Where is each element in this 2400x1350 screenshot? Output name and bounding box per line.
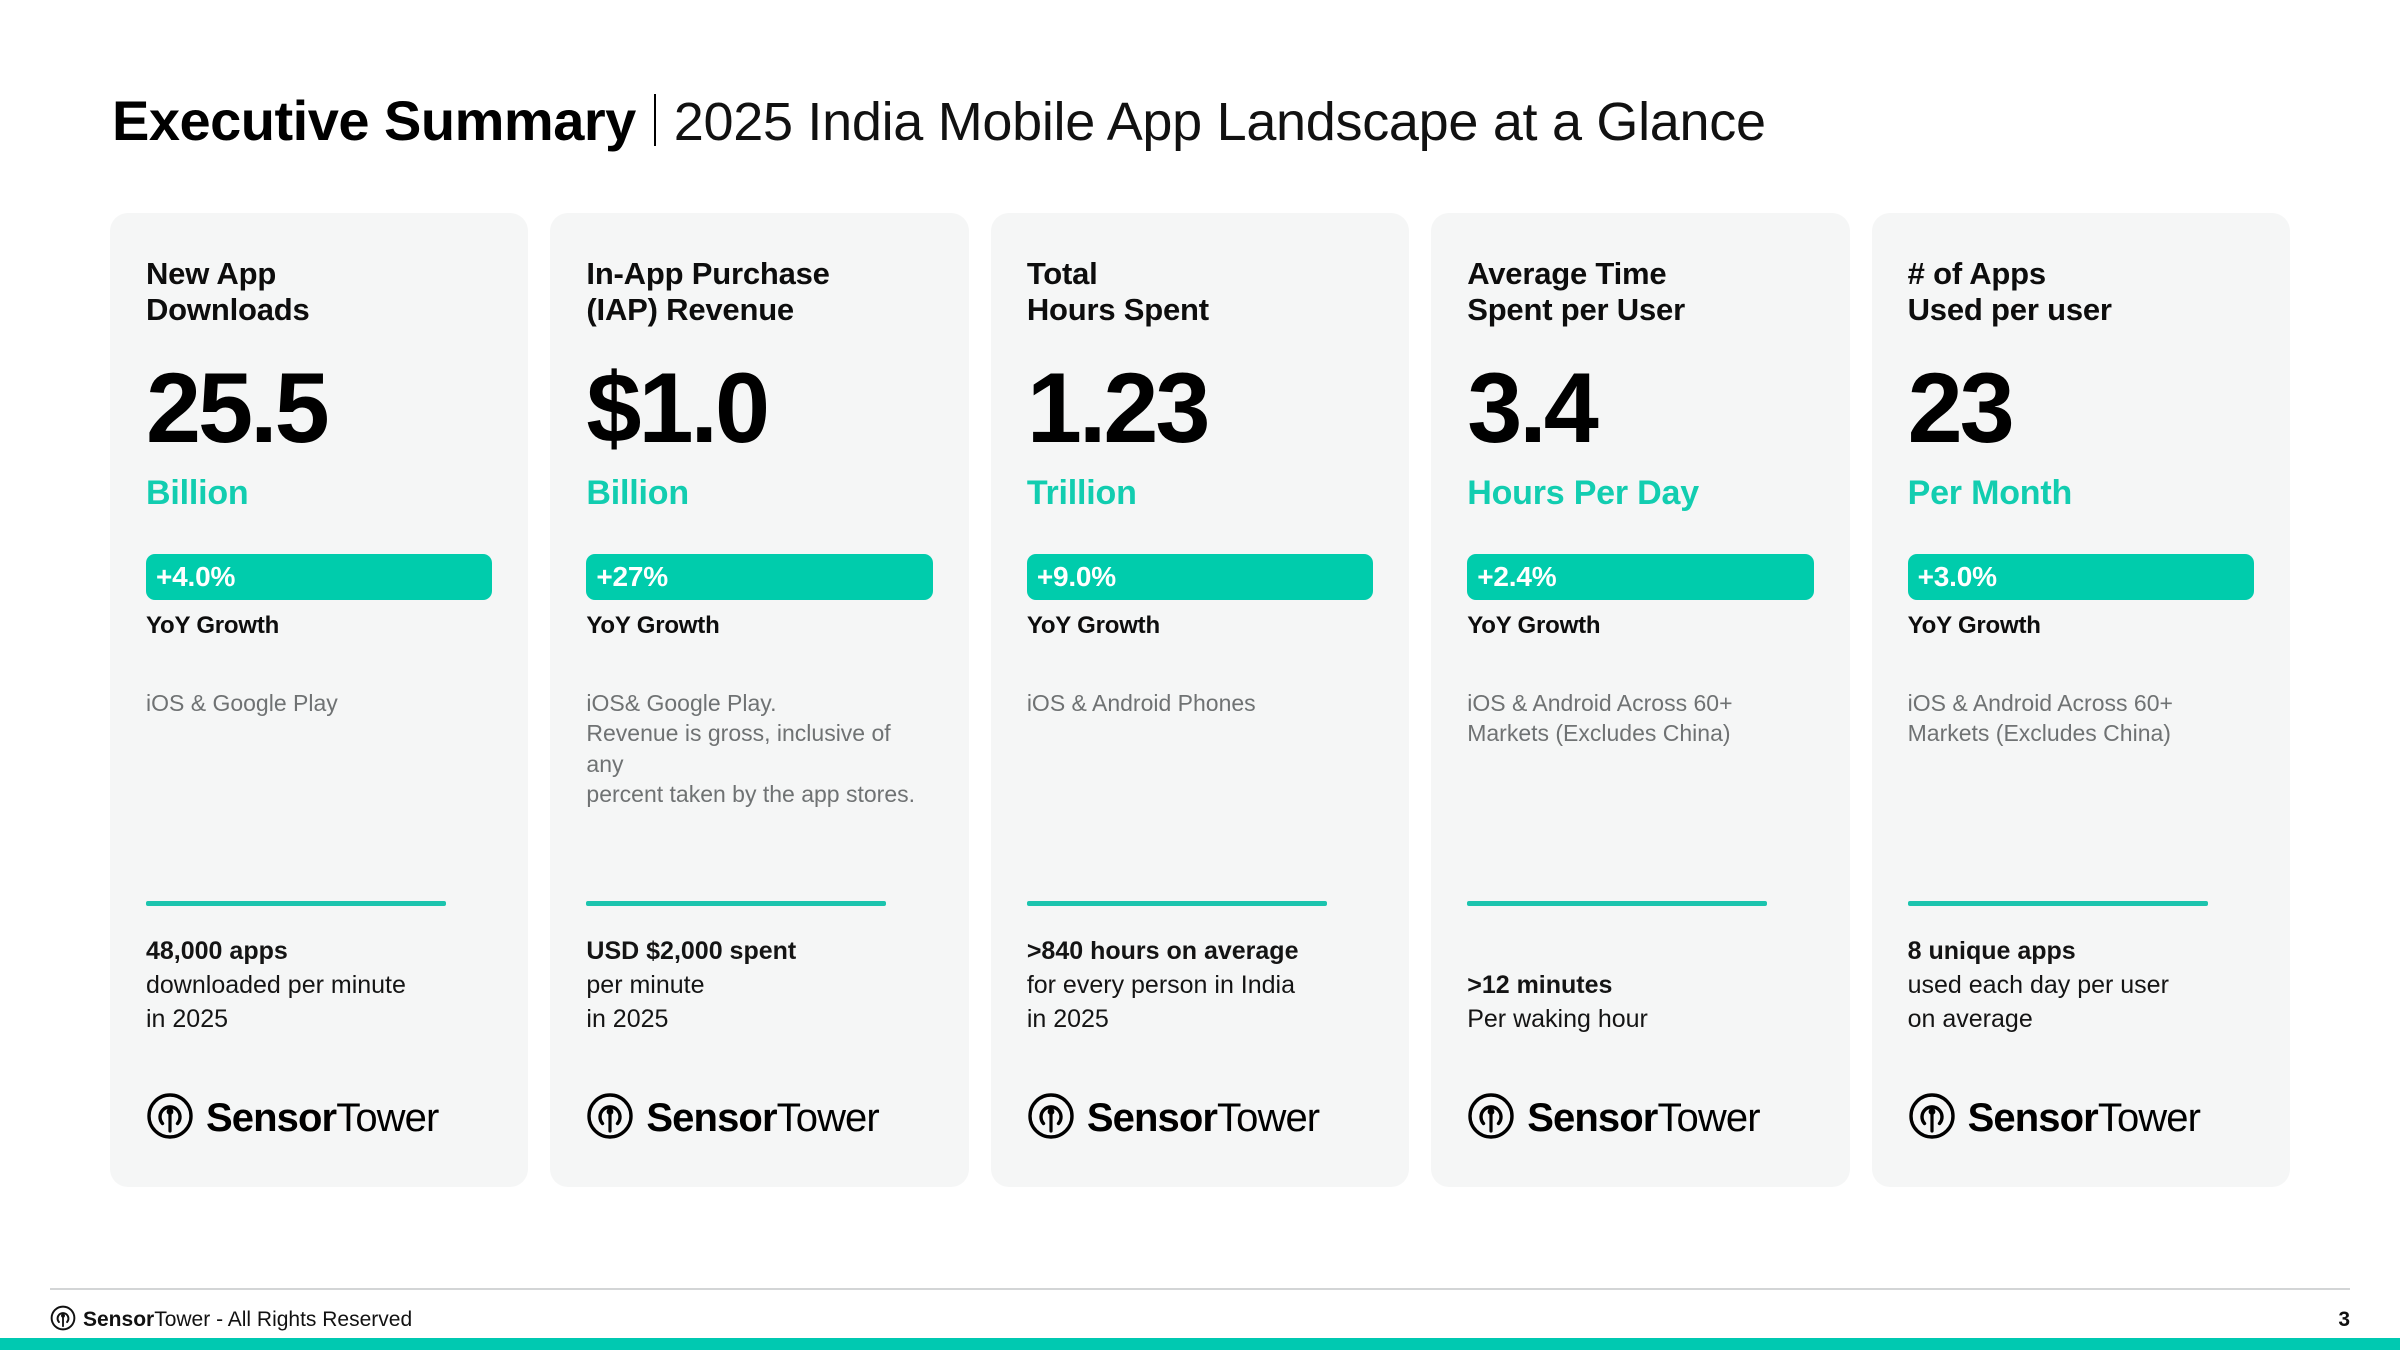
card-divider	[1908, 901, 2208, 906]
yoy-growth-label: YoY Growth	[1467, 612, 1813, 640]
card-footnote: USD $2,000 spent per minute in 2025	[586, 934, 796, 1036]
growth-badge: +4.0%	[146, 554, 492, 600]
slide-root: Executive Summary 2025 India Mobile App …	[0, 0, 2400, 1350]
card-source-note: iOS & Google Play	[146, 688, 492, 718]
page-title: Executive Summary 2025 India Mobile App …	[112, 88, 1766, 153]
sensor-tower-logo: SensorTower	[1027, 1092, 1319, 1145]
card-footnote: 48,000 apps downloaded per minute in 202…	[146, 934, 406, 1036]
logo-bold: Sensor	[206, 1096, 336, 1140]
card-title: New App Downloads	[146, 256, 492, 332]
logo-light: Tower	[777, 1096, 879, 1140]
sensor-tower-mark-icon	[1027, 1092, 1075, 1145]
sensor-tower-wordmark: SensorTower	[1968, 1096, 2200, 1141]
card-unit: Hours Per Day	[1467, 470, 1813, 516]
growth-badge: +2.4%	[1467, 554, 1813, 600]
card-value: 25.5	[146, 354, 492, 460]
page-title-subtitle: 2025 India Mobile App Landscape at a Gla…	[674, 91, 1766, 153]
logo-bold: Sensor	[1087, 1096, 1217, 1140]
card-unit: Per Month	[1908, 470, 2254, 516]
growth-badge: +3.0%	[1908, 554, 2254, 600]
card-footnote-bold: 8 unique apps	[1908, 937, 2076, 965]
growth-badge-label: +4.0%	[156, 561, 235, 593]
sensor-tower-logo: SensorTower	[146, 1092, 438, 1145]
sensor-tower-logo: SensorTower	[1908, 1092, 2200, 1145]
footer-brand: SensorTower - All Rights Reserved	[50, 1305, 412, 1336]
growth-badge-label: +9.0%	[1037, 561, 1116, 593]
sensor-tower-mark-icon	[1908, 1092, 1956, 1145]
card-footnote-rest: Per waking hour	[1467, 1005, 1648, 1033]
logo-bold: Sensor	[1968, 1096, 2098, 1140]
card-footnote-bold: >12 minutes	[1467, 971, 1612, 999]
sensor-tower-mark-icon	[1467, 1092, 1515, 1145]
sensor-tower-wordmark: SensorTower	[1087, 1096, 1319, 1141]
card-unit: Billion	[146, 470, 492, 516]
card-value: 3.4	[1467, 354, 1813, 460]
card-footnote-bold: >840 hours on average	[1027, 937, 1299, 965]
card-footnote-rest: downloaded per minute in 2025	[146, 971, 406, 1033]
card-unit: Billion	[586, 470, 932, 516]
metric-card-iap-revenue[interactable]: In-App Purchase (IAP) Revenue $1.0 Billi…	[550, 213, 968, 1187]
title-divider-icon	[654, 94, 656, 146]
metric-card-grid: New App Downloads 25.5 Billion +4.0% YoY…	[110, 213, 2290, 1187]
yoy-growth-label: YoY Growth	[1908, 612, 2254, 640]
card-footnote: 8 unique apps used each day per user on …	[1908, 934, 2169, 1036]
metric-card-total-hours-spent[interactable]: Total Hours Spent 1.23 Trillion +9.0% Yo…	[991, 213, 1409, 1187]
footer-sensor-tower-mark-icon	[50, 1305, 76, 1336]
card-footnote-bold: USD $2,000 spent	[586, 937, 796, 965]
card-unit: Trillion	[1027, 470, 1373, 516]
card-footnote-bold: 48,000 apps	[146, 937, 288, 965]
card-divider	[586, 901, 886, 906]
footer-brand-bold: Sensor	[83, 1308, 154, 1331]
footer-rights-text: - All Rights Reserved	[210, 1308, 412, 1331]
metric-card-new-app-downloads[interactable]: New App Downloads 25.5 Billion +4.0% YoY…	[110, 213, 528, 1187]
growth-badge-label: +27%	[596, 561, 668, 593]
page-number: 3	[2338, 1308, 2350, 1332]
card-source-note: iOS& Google Play. Revenue is gross, incl…	[586, 688, 932, 809]
card-footnote: >840 hours on average for every person i…	[1027, 934, 1299, 1036]
growth-badge-label: +2.4%	[1477, 561, 1556, 593]
logo-light: Tower	[1217, 1096, 1319, 1140]
card-value: 23	[1908, 354, 2254, 460]
card-title: Average Time Spent per User	[1467, 256, 1813, 332]
sensor-tower-mark-icon	[586, 1092, 634, 1145]
card-footnote: >12 minutes Per waking hour	[1467, 968, 1648, 1036]
card-source-note: iOS & Android Phones	[1027, 688, 1373, 718]
card-footnote-rest: per minute in 2025	[586, 971, 704, 1033]
card-title: In-App Purchase (IAP) Revenue	[586, 256, 932, 332]
logo-light: Tower	[1657, 1096, 1759, 1140]
card-value: 1.23	[1027, 354, 1373, 460]
sensor-tower-logo: SensorTower	[1467, 1092, 1759, 1145]
page-title-bold: Executive Summary	[112, 88, 636, 153]
sensor-tower-logo: SensorTower	[586, 1092, 878, 1145]
logo-light: Tower	[2098, 1096, 2200, 1140]
sensor-tower-mark-icon	[146, 1092, 194, 1145]
card-source-note: iOS & Android Across 60+ Markets (Exclud…	[1467, 688, 1813, 749]
card-title: Total Hours Spent	[1027, 256, 1373, 332]
card-footnote-rest: used each day per user on average	[1908, 971, 2169, 1033]
footer-brand-light: Tower	[154, 1308, 210, 1331]
yoy-growth-label: YoY Growth	[146, 612, 492, 640]
sensor-tower-wordmark: SensorTower	[1527, 1096, 1759, 1141]
growth-badge: +27%	[586, 554, 932, 600]
yoy-growth-label: YoY Growth	[586, 612, 932, 640]
logo-bold: Sensor	[1527, 1096, 1657, 1140]
card-value: $1.0	[586, 354, 932, 460]
bottom-accent-bar	[0, 1338, 2400, 1350]
yoy-growth-label: YoY Growth	[1027, 612, 1373, 640]
growth-badge-label: +3.0%	[1918, 561, 1997, 593]
logo-light: Tower	[336, 1096, 438, 1140]
footer-divider	[50, 1288, 2350, 1290]
card-title: # of Apps Used per user	[1908, 256, 2254, 332]
sensor-tower-wordmark: SensorTower	[206, 1096, 438, 1141]
footer-copyright: SensorTower - All Rights Reserved	[83, 1308, 412, 1332]
card-source-note: iOS & Android Across 60+ Markets (Exclud…	[1908, 688, 2254, 749]
card-divider	[1467, 901, 1767, 906]
sensor-tower-wordmark: SensorTower	[646, 1096, 878, 1141]
metric-card-apps-used-per-user[interactable]: # of Apps Used per user 23 Per Month +3.…	[1872, 213, 2290, 1187]
footer: SensorTower - All Rights Reserved 3	[50, 1300, 2350, 1340]
card-divider	[1027, 901, 1327, 906]
logo-bold: Sensor	[646, 1096, 776, 1140]
card-divider	[146, 901, 446, 906]
metric-card-average-time-spent[interactable]: Average Time Spent per User 3.4 Hours Pe…	[1431, 213, 1849, 1187]
growth-badge: +9.0%	[1027, 554, 1373, 600]
card-footnote-rest: for every person in India in 2025	[1027, 971, 1295, 1033]
